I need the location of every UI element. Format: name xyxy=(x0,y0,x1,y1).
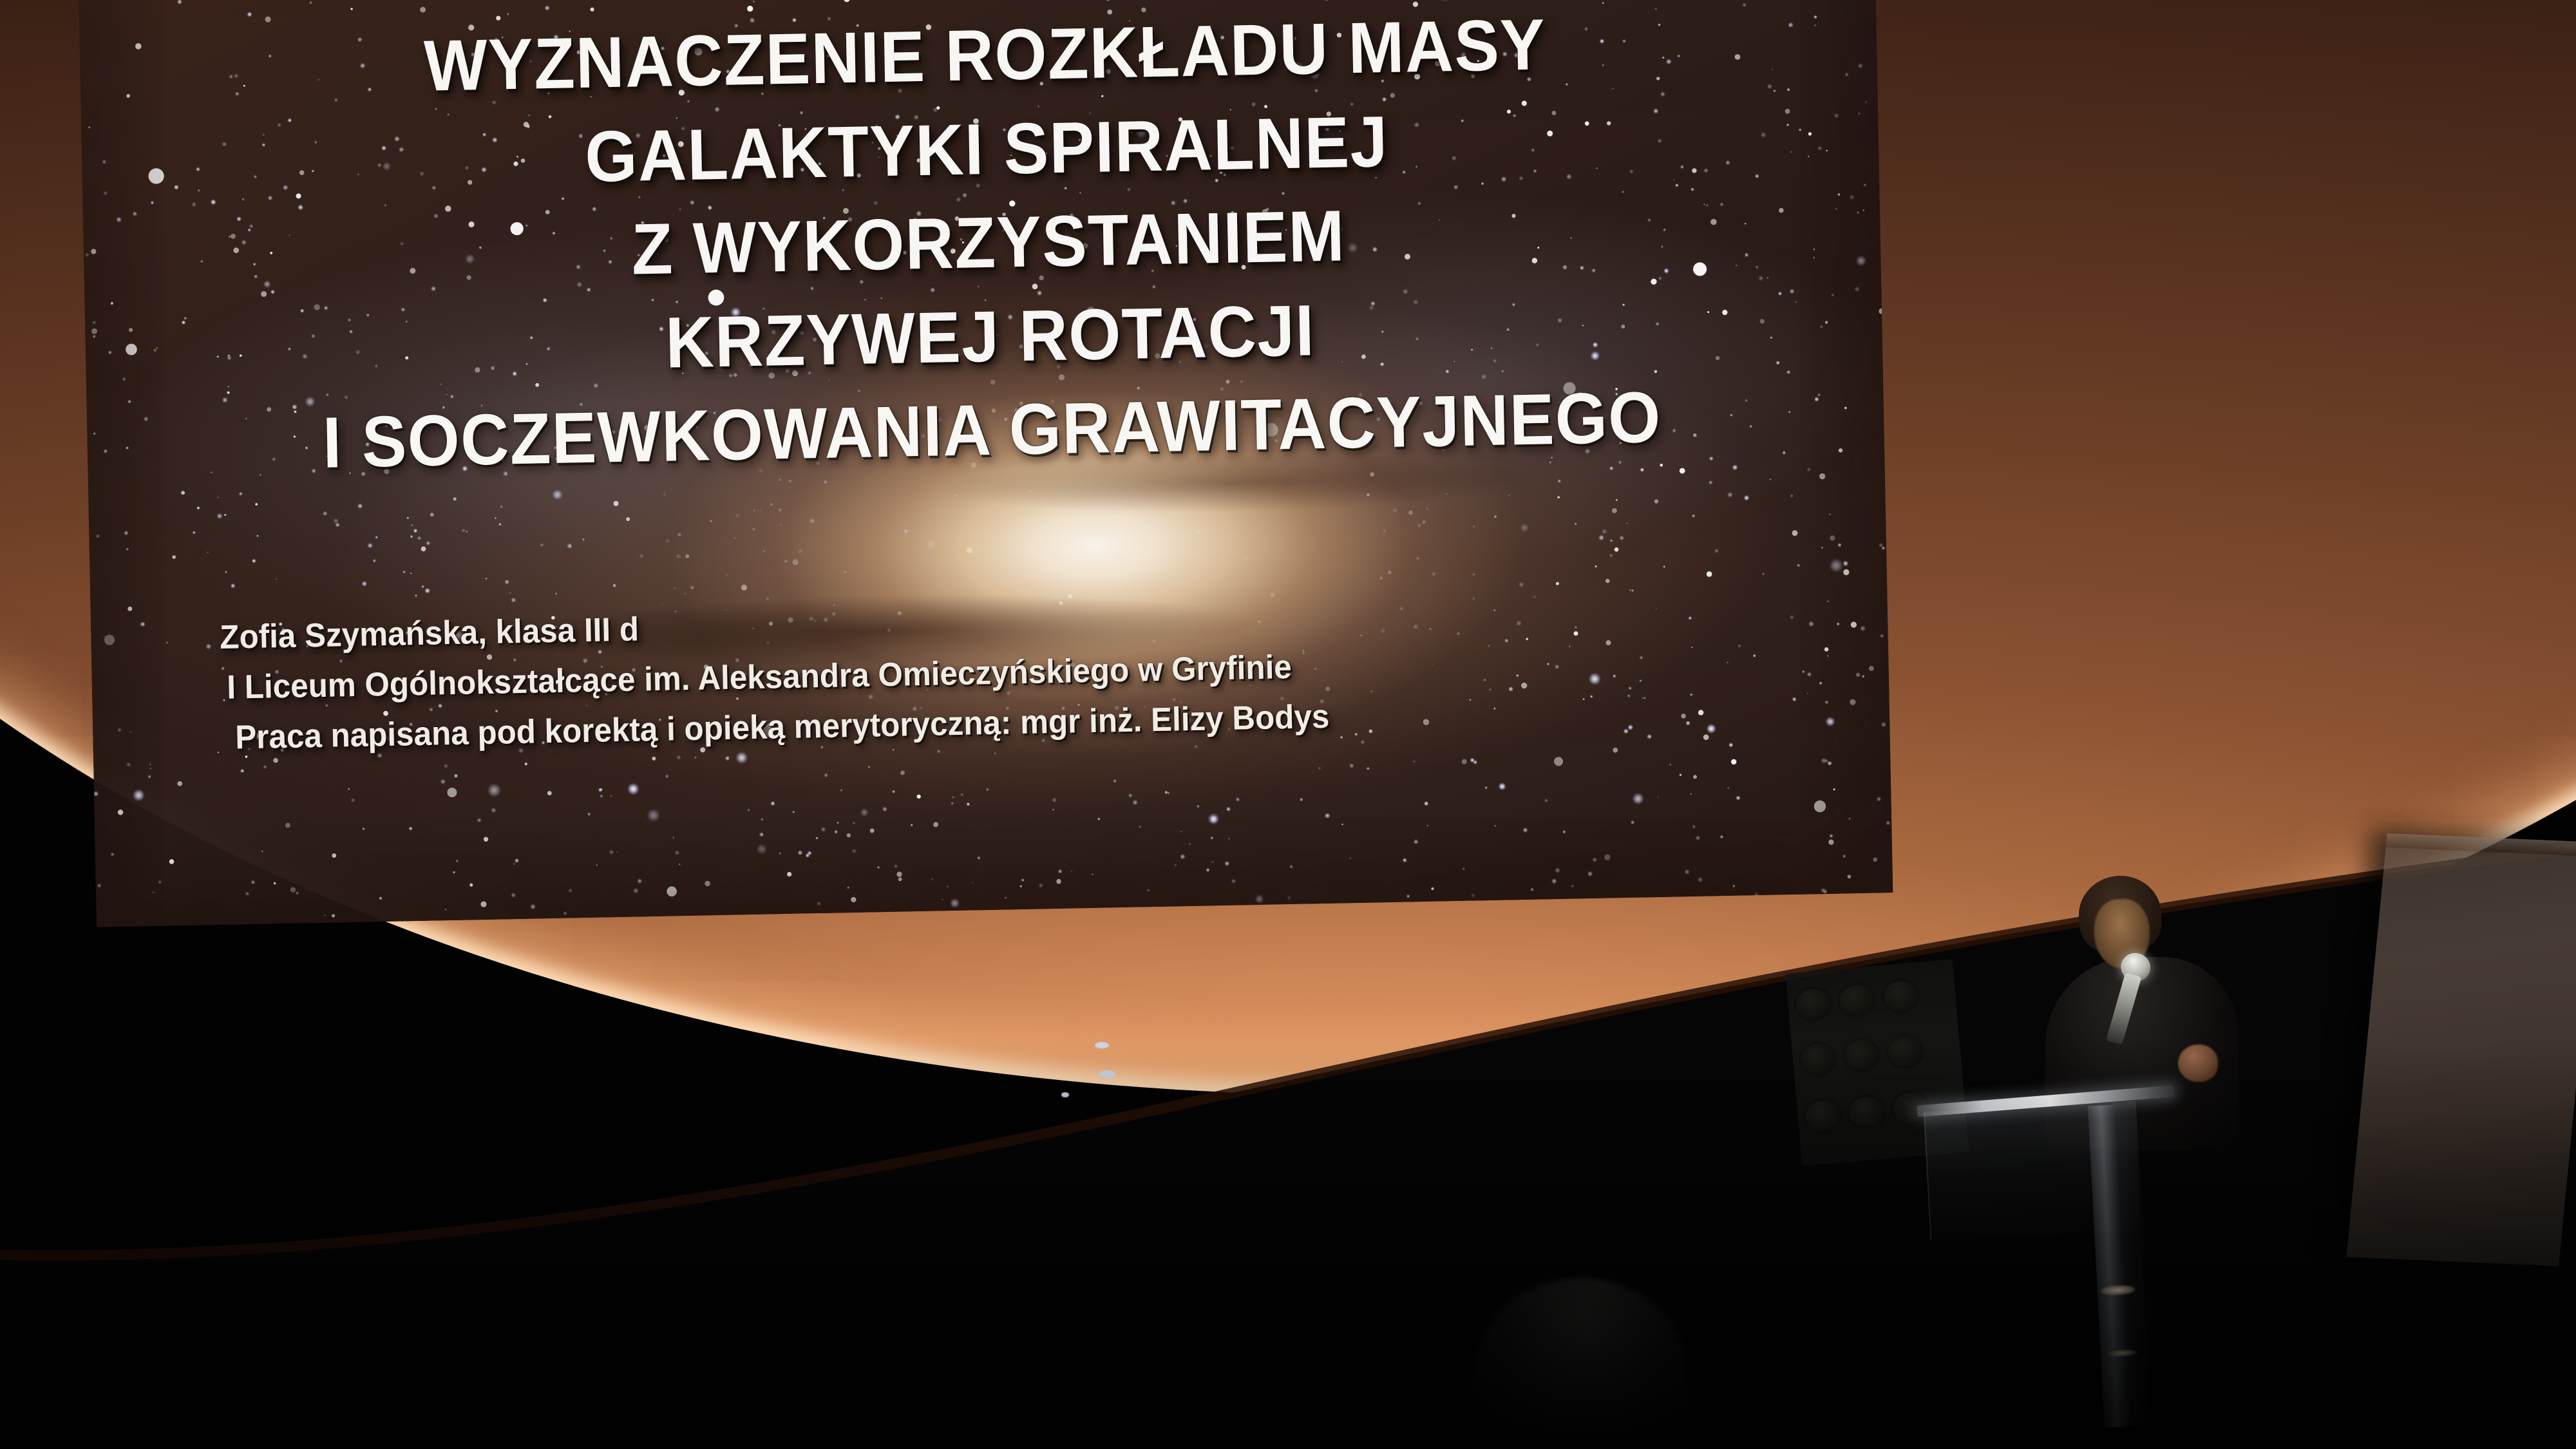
lectern-column xyxy=(2088,1104,2151,1428)
planetarium-scene: WYZNACZENIE ROZKŁADU MASY GALAKTYKI SPIR… xyxy=(0,0,2576,1449)
floor-glint xyxy=(1061,1092,1069,1097)
grille-hole xyxy=(1848,1095,1886,1129)
presenter-hand xyxy=(2178,1045,2218,1082)
projected-slide: WYZNACZENIE ROZKŁADU MASY GALAKTYKI SPIR… xyxy=(77,0,1893,927)
grille-hole xyxy=(1882,980,1919,1014)
grille-hole xyxy=(1838,983,1875,1018)
grille-hole xyxy=(1887,1035,1924,1069)
side-wall-panel xyxy=(2346,833,2576,1266)
lectern-specular-glint xyxy=(2108,1349,2138,1358)
floor-glint xyxy=(1095,1042,1109,1048)
lectern-specular-glint xyxy=(2100,1284,2136,1296)
grille-hole xyxy=(1804,1099,1842,1133)
glass-lectern xyxy=(1929,1088,2192,1448)
slide-credits-block: Zofia Szymańska, klasa III d I Liceum Og… xyxy=(220,585,1639,763)
grille-hole xyxy=(1795,987,1832,1021)
grille-hole xyxy=(1843,1039,1880,1073)
grille-hole xyxy=(1799,1043,1837,1077)
floor-glint xyxy=(1099,1070,1115,1078)
audience-silhouette xyxy=(1475,1278,1687,1449)
slide-title-block: WYZNACZENIE ROZKŁADU MASY GALAKTYKI SPIR… xyxy=(189,0,1788,493)
